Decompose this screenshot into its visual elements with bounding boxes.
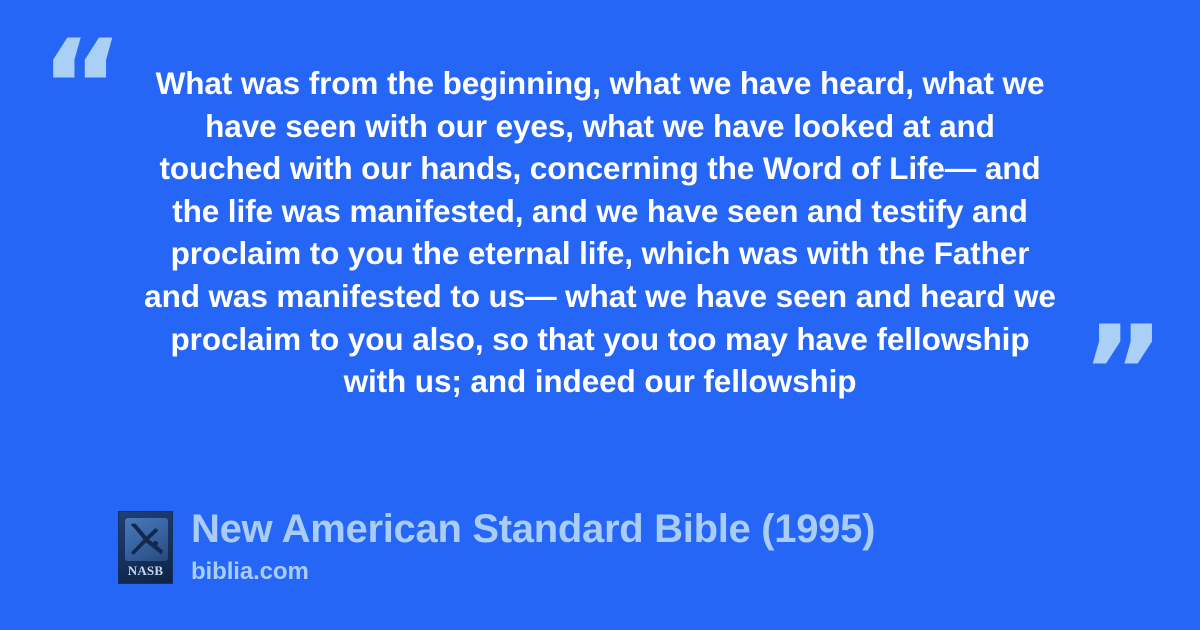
quote-text-block: What was from the beginning, what we hav… xyxy=(60,62,1140,403)
quote-line: proclaim to you the eternal life, which … xyxy=(60,232,1140,275)
quote-line: have seen with our eyes, what we have lo… xyxy=(60,105,1140,148)
site-url[interactable]: biblia.com xyxy=(191,558,875,585)
nasb-logo-icon: NASB xyxy=(118,511,173,584)
footer-text-group: New American Standard Bible (1995) bibli… xyxy=(191,506,875,585)
quote-line: proclaim to you also, so that you too ma… xyxy=(60,318,1140,361)
bible-version-title: New American Standard Bible (1995) xyxy=(191,506,875,553)
quote-line: touched with our hands, concerning the W… xyxy=(60,147,1140,190)
closing-quote-mark: ” xyxy=(1081,310,1163,438)
cross-sword-icon xyxy=(125,518,168,561)
quote-line: with us; and indeed our fellowship xyxy=(60,360,1140,403)
quote-line: the life was manifested, and we have see… xyxy=(60,190,1140,233)
attribution-footer: NASB New American Standard Bible (1995) … xyxy=(118,506,875,585)
quote-line: and was manifested to us— what we have s… xyxy=(60,275,1140,318)
logo-wordmark: NASB xyxy=(119,563,172,579)
quote-card: “ What was from the beginning, what we h… xyxy=(0,0,1200,630)
quote-line: What was from the beginning, what we hav… xyxy=(60,62,1140,105)
